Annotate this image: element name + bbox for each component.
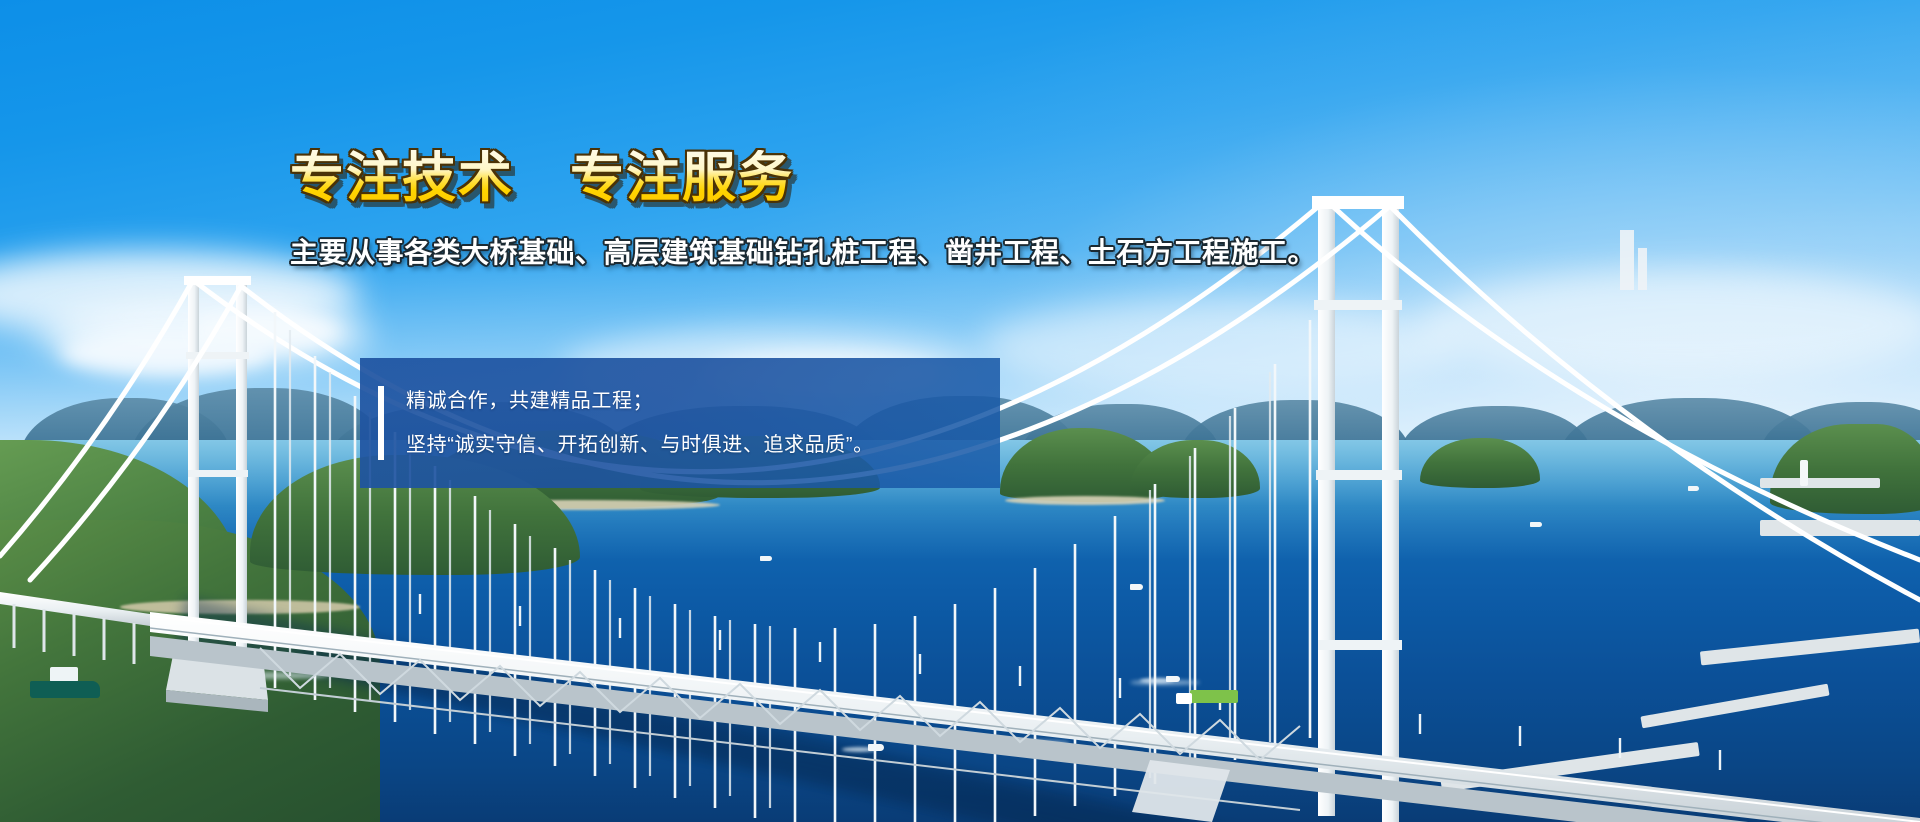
panel-text-group: 精诚合作，共建精品工程； 坚持“诚实守信、开拓创新、与时俱进、追求品质”。 [406, 391, 874, 455]
bridge-tower-right [1312, 196, 1404, 822]
banner-hero: 专注技术 专注服务 主要从事各类大桥基础、高层建筑基础钻孔桩工程、凿井工程、土石… [0, 0, 1920, 822]
slogan-line-2: 坚持“诚实守信、开拓创新、与时俱进、追求品质”。 [406, 435, 874, 455]
panel-accent-bar [378, 386, 384, 460]
approach-viaduct [0, 592, 150, 664]
slogan-line-1: 精诚合作，共建精品工程； [406, 391, 874, 411]
banner-copy: 专注技术 专注服务 主要从事各类大桥基础、高层建筑基础钻孔桩工程、凿井工程、土石… [290, 150, 1550, 271]
slogan-panel: 精诚合作，共建精品工程； 坚持“诚实守信、开拓创新、与时俱进、追求品质”。 [360, 358, 1000, 488]
vehicle [1190, 690, 1238, 703]
vehicle [1176, 693, 1192, 704]
page-subtitle: 主要从事各类大桥基础、高层建筑基础钻孔桩工程、凿井工程、土石方工程施工。 [290, 231, 1550, 271]
page-title: 专注技术 专注服务 [290, 150, 1550, 207]
